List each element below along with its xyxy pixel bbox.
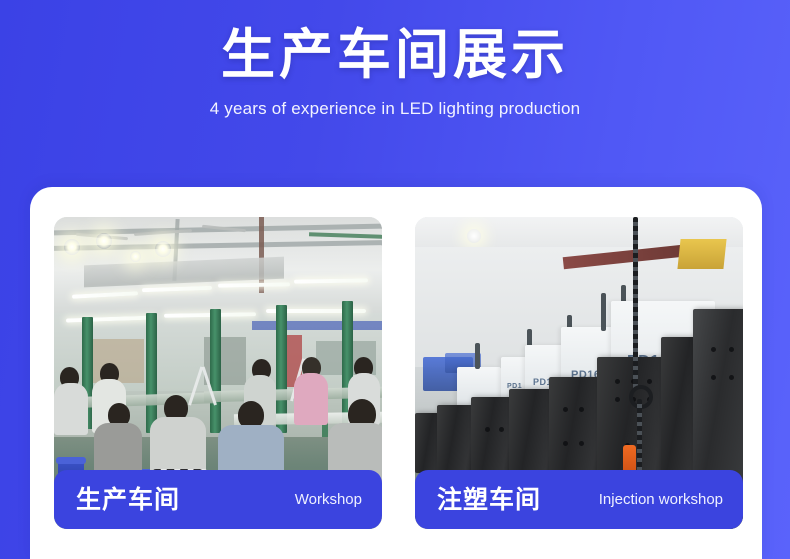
workshop-tile-2[interactable]: PD1 PD16 Servo PD168 Servo PD168 Servo ▬…: [415, 217, 743, 529]
header: 生产车间展示 4 years of experience in LED ligh…: [0, 0, 790, 120]
promo-banner: 生产车间展示 4 years of experience in LED ligh…: [0, 0, 790, 559]
caption-bar-1: 生产车间 Workshop: [54, 470, 382, 529]
photo-grid: 生产车间 Workshop PD1: [54, 217, 743, 529]
caption-cn-2: 注塑车间: [437, 485, 541, 515]
workshop-tile-1[interactable]: 生产车间 Workshop: [54, 217, 382, 529]
page-subtitle: 4 years of experience in LED lighting pr…: [0, 88, 790, 120]
caption-en-1: Workshop: [295, 490, 362, 510]
caption-en-2: Injection workshop: [599, 490, 723, 510]
content-card: 生产车间 Workshop PD1: [30, 187, 762, 559]
caption-bar-2: 注塑车间 Injection workshop: [415, 470, 743, 529]
caption-cn-1: 生产车间: [76, 485, 180, 515]
page-title: 生产车间展示: [0, 0, 790, 88]
